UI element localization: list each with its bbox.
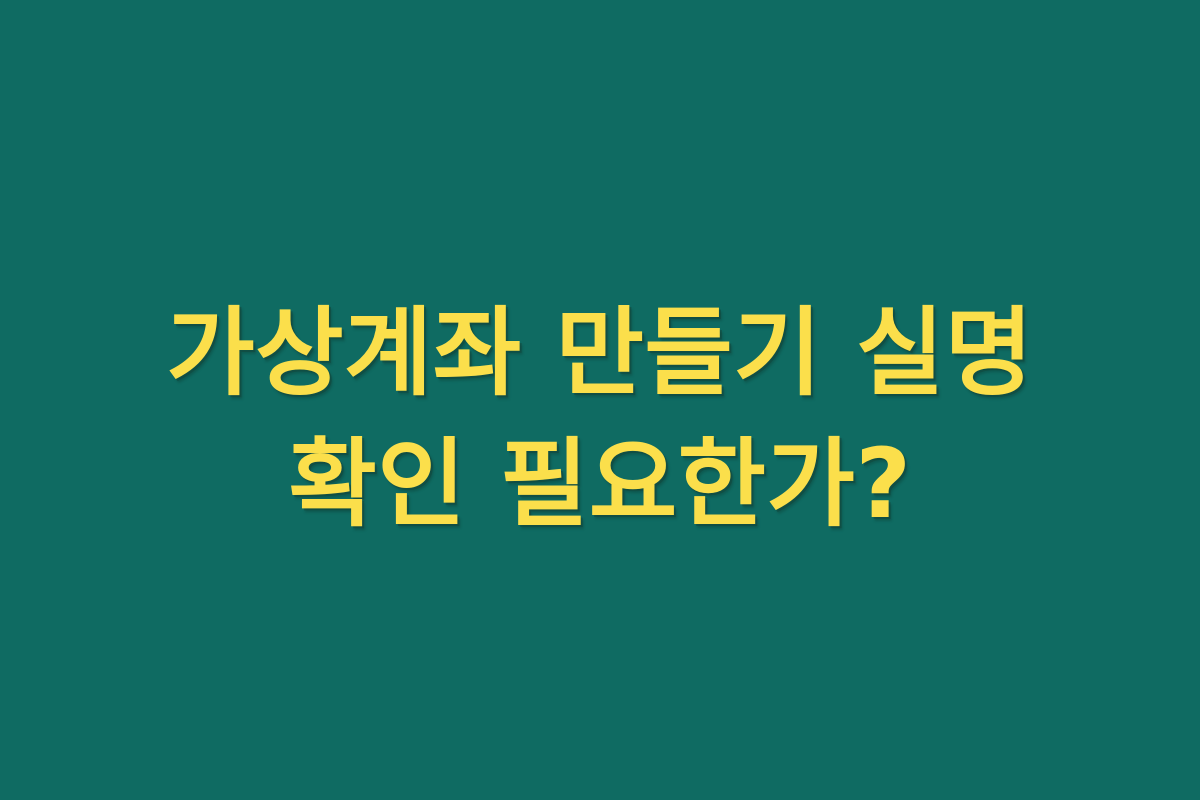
page-title: 가상계좌 만들기 실명 확인 필요한가? (70, 288, 1130, 549)
headline-block: 가상계좌 만들기 실명 확인 필요한가? (70, 288, 1130, 549)
banner-canvas: 가상계좌 만들기 실명 확인 필요한가? (0, 0, 1200, 800)
